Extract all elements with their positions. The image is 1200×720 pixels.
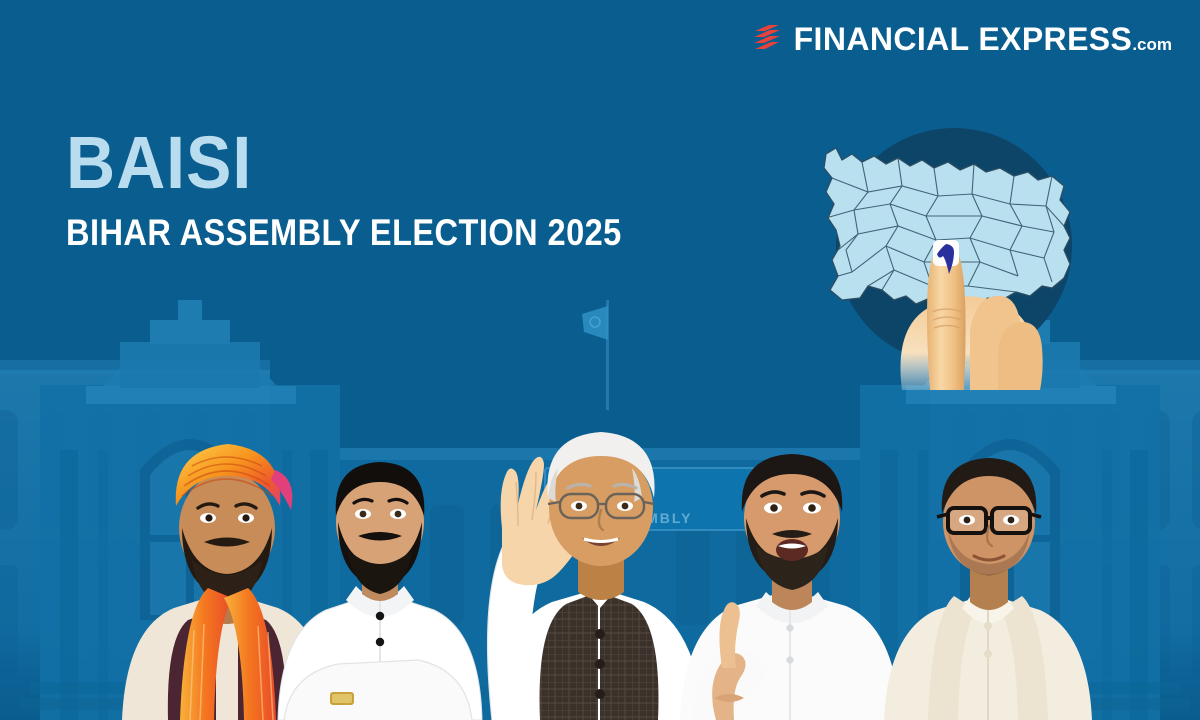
election-banner: विधान सभा اسمبلی ASSEMBLY FINANCIAL EXPR… [0,0,1200,720]
financial-express-logo[interactable]: FINANCIAL EXPRESS.com [752,22,1172,56]
bihar-map-voting-finger-icon [802,100,1092,390]
politician-5-leader-spectacles-shawl [878,430,1108,720]
brand-wordmark: FINANCIAL EXPRESS.com [794,23,1172,55]
financial-express-stripes-icon [752,22,782,56]
election-subtitle: BIHAR ASSEMBLY ELECTION 2025 [66,214,622,251]
brand-name: FINANCIAL EXPRESS [794,21,1133,57]
politician-3-leader-waving-white-hair [436,360,706,720]
constituency-title: BAISI [66,128,647,198]
brand-suffix: .com [1132,35,1172,54]
headline-block: BAISI BIHAR ASSEMBLY ELECTION 2025 [66,128,698,251]
